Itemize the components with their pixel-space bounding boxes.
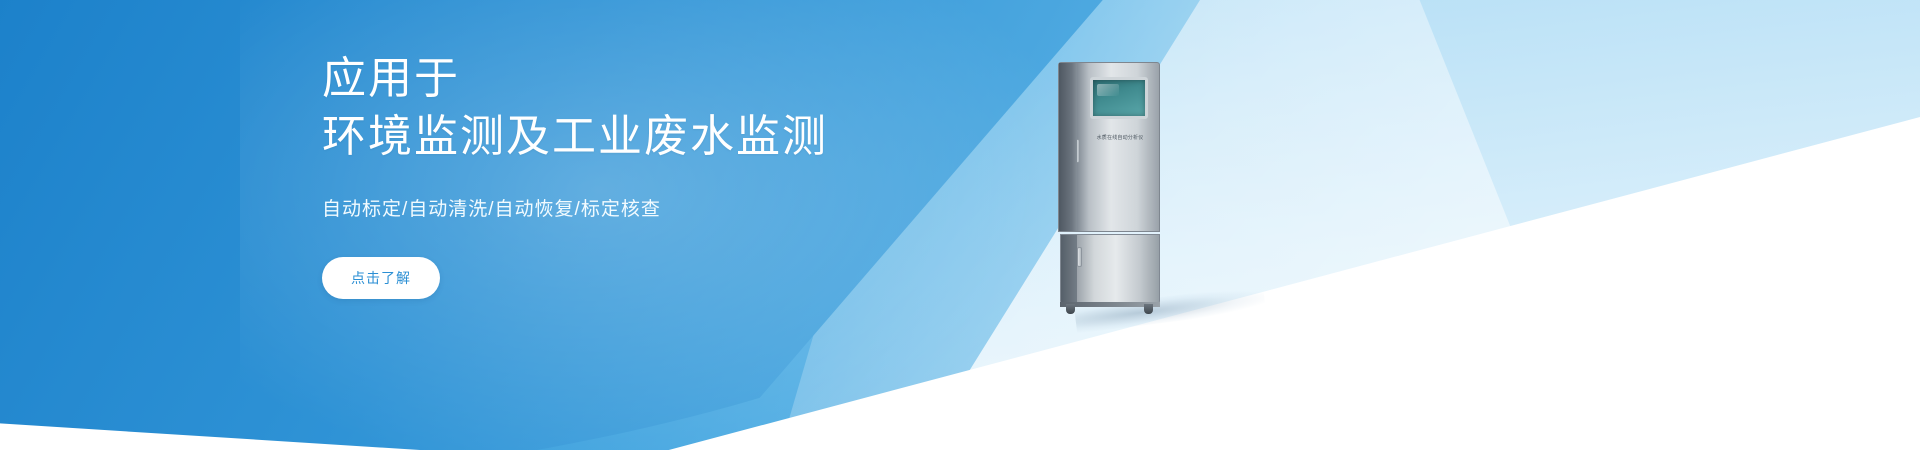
hero-content: 应用于 环境监测及工业废水监测 自动标定/自动清洗/自动恢复/标定核查 点击了解: [322, 50, 1082, 299]
display-screen-icon: [1090, 77, 1148, 119]
cabinet-foot-left: [1066, 304, 1075, 314]
learn-more-button[interactable]: 点击了解: [322, 257, 440, 299]
lower-door-handle: [1077, 247, 1082, 267]
cabinet-upper-section: 水质在线自动分析仪: [1058, 62, 1160, 232]
hero-subheadline: 自动标定/自动清洗/自动恢复/标定核查: [322, 194, 1082, 221]
hero-banner: 应用于 环境监测及工业废水监测 自动标定/自动清洗/自动恢复/标定核查 点击了解…: [0, 0, 1920, 450]
cabinet-lower-section: [1060, 234, 1160, 304]
cabinet-foot-right: [1144, 304, 1153, 314]
headline-line-1: 应用于: [322, 54, 460, 103]
hero-headline: 应用于 环境监测及工业废水监测: [322, 50, 1082, 166]
product-analyzer-cabinet: 水质在线自动分析仪: [1058, 62, 1178, 314]
product-label-text: 水质在线自动分析仪: [1083, 136, 1157, 141]
upper-door-handle: [1075, 139, 1080, 163]
headline-line-2: 环境监测及工业废水监测: [322, 108, 1082, 166]
